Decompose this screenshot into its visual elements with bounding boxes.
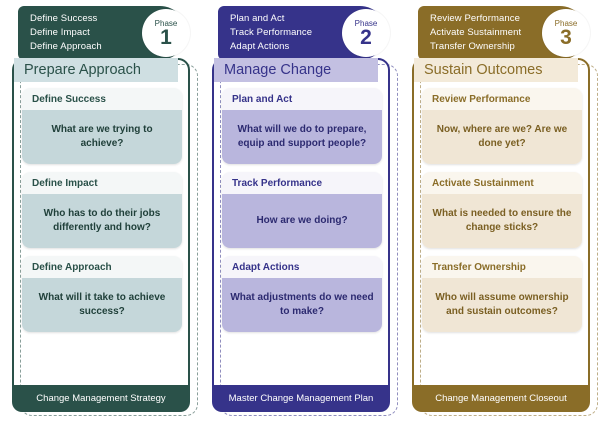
phase-3-card-1-heading: Review Performance — [422, 88, 582, 110]
phase-2-card-2-question: How are we doing? — [222, 194, 382, 248]
phase-3-header: Review Performance Activate Sustainment … — [418, 6, 586, 60]
phase-2-card-3-question: What adjustments do we need to make? — [222, 278, 382, 332]
phase-1-card-3[interactable]: Define Approach What will it take to ach… — [22, 256, 182, 332]
phase-3-badge-number: 3 — [560, 27, 572, 48]
phase-2-header: Plan and Act Track Performance Adapt Act… — [218, 6, 386, 60]
phase-1-card-3-heading: Define Approach — [22, 256, 182, 278]
phase-2-title-text: Manage Change — [224, 62, 331, 78]
phase-1-card-2-heading: Define Impact — [22, 172, 182, 194]
phase-1-card-1-question: What are we trying to achieve? — [22, 110, 182, 164]
phase-1-header: Define Success Define Impact Define Appr… — [18, 6, 186, 60]
phase-3-card-3[interactable]: Transfer Ownership Who will assume owner… — [422, 256, 582, 332]
phase-2-card-1-heading: Plan and Act — [222, 88, 382, 110]
phase-2-card-3-heading: Adapt Actions — [222, 256, 382, 278]
phase-1-title-text: Prepare Approach — [24, 62, 141, 78]
phase-3-card-1[interactable]: Review Performance Now, where are we? Ar… — [422, 88, 582, 164]
phase-3-footer: Change Management Closeout — [412, 385, 590, 412]
phase-2-badge-number: 2 — [360, 27, 372, 48]
phase-3-card-1-question: Now, where are we? Are we done yet? — [422, 110, 582, 164]
phase-3-card-2-heading: Activate Sustainment — [422, 172, 582, 194]
phase-1-title: Prepare Approach — [14, 58, 178, 82]
phase-3-card-3-question: Who will assume ownership and sustain ou… — [422, 278, 582, 332]
phase-column-3: Review Performance Activate Sustainment … — [408, 0, 598, 425]
phase-1-badge: Phase 1 — [142, 9, 190, 57]
phase-3-badge: Phase 3 — [542, 9, 590, 57]
phase-1-card-1[interactable]: Define Success What are we trying to ach… — [22, 88, 182, 164]
phase-1-card-2-question: Who has to do their jobs differently and… — [22, 194, 182, 248]
phase-1-badge-number: 1 — [160, 27, 172, 48]
phase-3-card-2[interactable]: Activate Sustainment What is needed to e… — [422, 172, 582, 248]
phase-column-2: Plan and Act Track Performance Adapt Act… — [208, 0, 398, 425]
phase-2-card-3[interactable]: Adapt Actions What adjustments do we nee… — [222, 256, 382, 332]
phase-1-footer-text: Change Management Strategy — [36, 393, 165, 404]
phase-2-card-2-heading: Track Performance — [222, 172, 382, 194]
phase-1-card-list: Define Success What are we trying to ach… — [22, 88, 182, 340]
phase-2-card-1-question: What will we do to prepare, equip and su… — [222, 110, 382, 164]
phase-2-footer: Master Change Management Plan — [212, 385, 390, 412]
phase-3-footer-text: Change Management Closeout — [435, 393, 567, 404]
change-management-phases-diagram: Define Success Define Impact Define Appr… — [0, 0, 600, 425]
phase-2-footer-text: Master Change Management Plan — [229, 393, 374, 404]
phase-3-card-list: Review Performance Now, where are we? Ar… — [422, 88, 582, 340]
phase-2-title: Manage Change — [214, 58, 378, 82]
phase-1-card-2[interactable]: Define Impact Who has to do their jobs d… — [22, 172, 182, 248]
phase-1-footer: Change Management Strategy — [12, 385, 190, 412]
phase-column-1: Define Success Define Impact Define Appr… — [8, 0, 198, 425]
phase-3-title: Sustain Outcomes — [414, 58, 578, 82]
phase-2-badge: Phase 2 — [342, 9, 390, 57]
phase-2-card-list: Plan and Act What will we do to prepare,… — [222, 88, 382, 340]
phase-2-card-2[interactable]: Track Performance How are we doing? — [222, 172, 382, 248]
phase-3-card-3-heading: Transfer Ownership — [422, 256, 582, 278]
phase-3-title-text: Sustain Outcomes — [424, 62, 542, 78]
phase-1-card-1-heading: Define Success — [22, 88, 182, 110]
phase-3-card-2-question: What is needed to ensure the change stic… — [422, 194, 582, 248]
phase-2-card-1[interactable]: Plan and Act What will we do to prepare,… — [222, 88, 382, 164]
phase-1-card-3-question: What will it take to achieve success? — [22, 278, 182, 332]
